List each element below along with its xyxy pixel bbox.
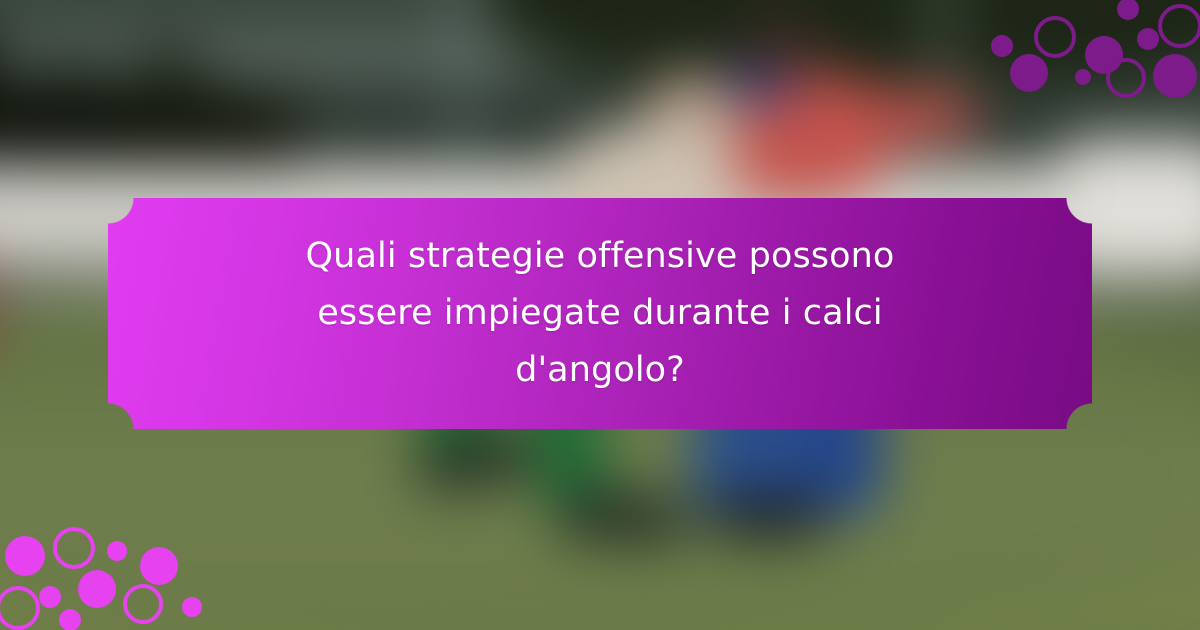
decorative-circle [59, 609, 81, 630]
decorative-circle [123, 584, 163, 624]
decorative-circle [1158, 4, 1200, 48]
decorative-circle [1034, 16, 1076, 58]
decorative-circle [1137, 28, 1159, 50]
decorative-circle [1106, 58, 1146, 98]
decorative-circle [107, 541, 127, 561]
dark-shoe [708, 493, 827, 538]
banner-card: Quali strategie offensive possono essere… [108, 198, 1092, 429]
decorative-circle [78, 570, 116, 608]
decorative-circle [1117, 0, 1139, 20]
banner-screenshot: Quali strategie offensive possono essere… [0, 0, 1200, 630]
decorative-circle [5, 536, 45, 576]
decorative-circle [39, 586, 61, 608]
decorative-circle [182, 597, 202, 617]
decorative-circle [991, 35, 1013, 57]
boot-right [555, 489, 688, 545]
decorative-circle [53, 527, 95, 569]
decorative-circle [1075, 69, 1091, 85]
decorative-circle [0, 586, 40, 630]
decorative-circle [140, 547, 178, 585]
circle-cluster-bottom-left [0, 510, 260, 630]
decorative-circle [1153, 54, 1197, 98]
banner-title: Quali strategie offensive possono essere… [240, 228, 960, 398]
circle-cluster-top-right [0, 0, 1200, 120]
decorative-circle [1010, 54, 1048, 92]
